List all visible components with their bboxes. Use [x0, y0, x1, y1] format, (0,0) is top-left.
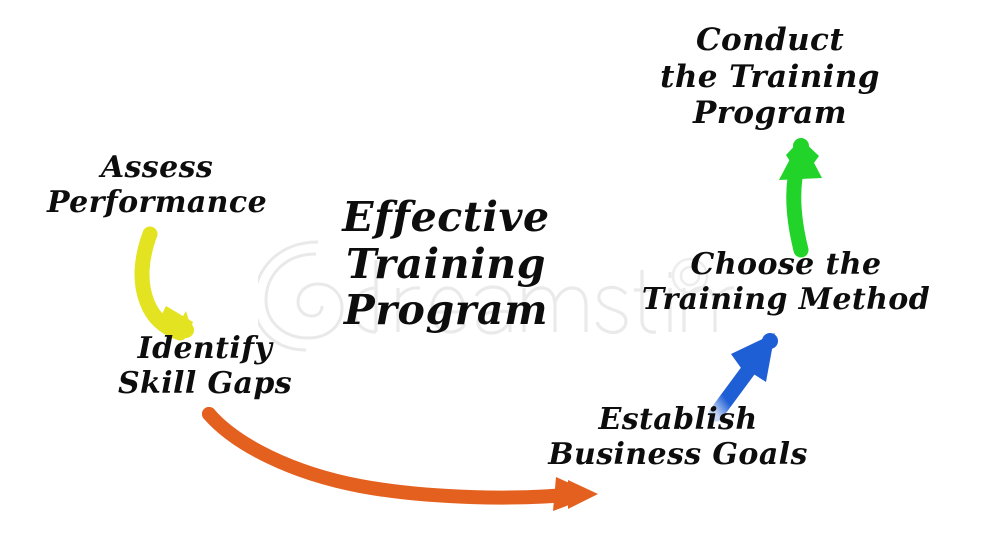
arrow-identify-to-establish-icon	[202, 407, 598, 511]
page-title: Effective Training Program	[316, 194, 576, 334]
node-identify-skill-gaps: Identify Skill Gaps	[100, 331, 310, 402]
diagram-canvas: Conduct the Training Program Assess Perf…	[0, 0, 992, 543]
node-assess-performance: Assess Performance	[12, 150, 302, 221]
node-choose-the-training-method: Choose the Training Method	[618, 247, 954, 318]
node-establish-business-goals: Establish Business Goals	[548, 402, 808, 473]
arrow-choose-to-conduct-icon	[779, 138, 822, 257]
node-conduct-the-training-program: Conduct the Training Program	[620, 22, 920, 132]
arrow-assess-to-identify-icon	[142, 228, 194, 338]
